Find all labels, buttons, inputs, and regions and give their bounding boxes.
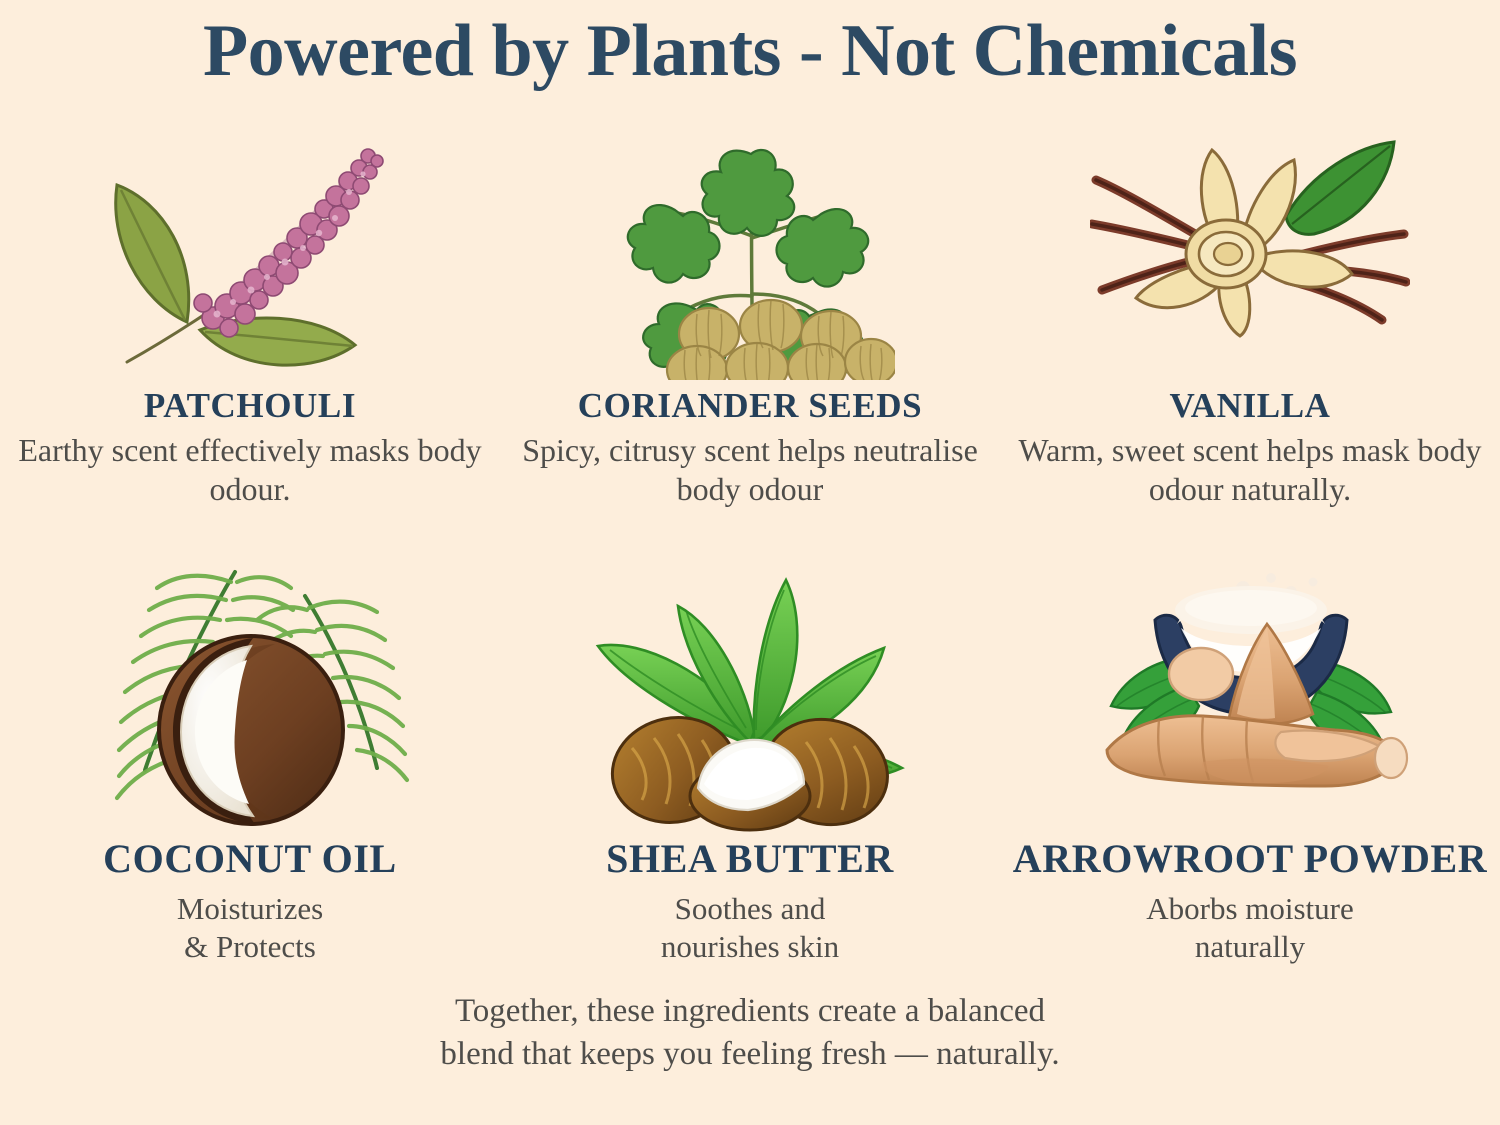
coconut-icon (85, 552, 415, 832)
arrowroot-art (1000, 532, 1500, 832)
footer-line-1: Together, these ingredients create a bal… (440, 990, 1059, 1033)
ingredient-name: SHEA BUTTER (606, 838, 894, 880)
vanilla-flower-icon (1090, 138, 1410, 338)
coriander-art (500, 112, 1000, 380)
ingredient-card-patchouli[interactable]: PATCHOULI Earthy scent effectively masks… (0, 112, 500, 532)
ingredient-name: ARROWROOT POWDER (1013, 838, 1487, 880)
arrowroot-powder-icon (1085, 566, 1415, 806)
footer-line-2: blend that keeps you feeling fresh — nat… (440, 1033, 1059, 1076)
ingredient-card-shea-butter[interactable]: SHEA BUTTER Soothes andnourishes skin (500, 532, 1000, 982)
ingredient-row-bottom: COCONUT OIL Moisturizes& Protects (0, 532, 1500, 982)
ingredient-name: VANILLA (1169, 388, 1330, 425)
vanilla-art (1000, 112, 1500, 380)
ingredient-description: Aborbs moisturenaturally (1146, 890, 1354, 967)
ingredient-card-coriander-seeds[interactable]: CORIANDER SEEDS Spicy, citrusy scent hel… (500, 112, 1000, 532)
page-title: Powered by Plants - Not Chemicals (0, 14, 1500, 88)
ingredient-card-vanilla[interactable]: VANILLA Warm, sweet scent helps mask bod… (1000, 112, 1500, 532)
ingredient-card-coconut-oil[interactable]: COCONUT OIL Moisturizes& Protects (0, 532, 500, 982)
shea-butter-art (500, 532, 1000, 832)
ingredient-name: PATCHOULI (144, 388, 356, 425)
shea-butter-icon (590, 572, 910, 832)
ingredient-card-arrowroot-powder[interactable]: ARROWROOT POWDER Aborbs moisturenaturall… (1000, 532, 1500, 982)
footer-text: Together, these ingredients create a bal… (440, 990, 1059, 1076)
infographic-page: Powered by Plants - Not Chemicals (0, 0, 1500, 1125)
ingredient-description: Spicy, citrusy scent helps neutralise bo… (510, 431, 990, 510)
ingredient-name: COCONUT OIL (103, 838, 397, 880)
ingredient-description: Warm, sweet scent helps mask body odour … (1010, 431, 1490, 510)
ingredient-description: Moisturizes& Protects (177, 890, 323, 967)
ingredient-name: CORIANDER SEEDS (578, 388, 923, 425)
ingredient-description: Soothes andnourishes skin (661, 890, 839, 967)
coriander-seeds-icon (605, 118, 895, 380)
footer: Together, these ingredients create a bal… (0, 982, 1500, 1125)
coconut-art (0, 532, 500, 832)
ingredient-row-top: PATCHOULI Earthy scent effectively masks… (0, 112, 1500, 532)
header: Powered by Plants - Not Chemicals (0, 0, 1500, 112)
patchouli-plant-icon (105, 130, 395, 380)
patchouli-art (0, 112, 500, 380)
ingredient-description: Earthy scent effectively masks body odou… (10, 431, 490, 510)
